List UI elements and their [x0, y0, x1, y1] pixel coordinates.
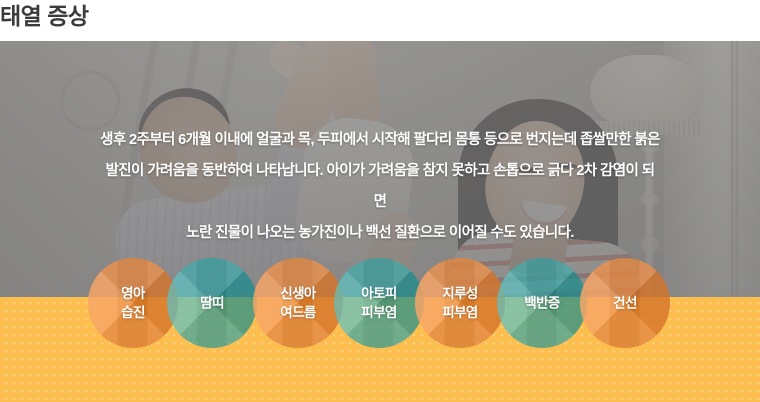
bubble-label: 영아 습진 — [88, 284, 178, 322]
bubble-label-line: 백반증 — [497, 294, 587, 313]
bubble-sinsaenga-yeodeureum[interactable]: 신생아 여드름 — [253, 258, 343, 348]
bubble-label-line: 건선 — [580, 294, 670, 313]
bubble-label: 신생아 여드름 — [253, 284, 343, 322]
bubble-geonseon[interactable]: 건선 — [580, 258, 670, 348]
bubble-label-line: 아토피 — [334, 284, 424, 303]
bubble-label: 백반증 — [497, 294, 587, 313]
bubble-label-line: 신생아 — [253, 284, 343, 303]
bubble-atopi-pibuyeom[interactable]: 아토피 피부염 — [334, 258, 424, 348]
bubble-jiruseong-pibuyeom[interactable]: 지루성 피부염 — [415, 258, 505, 348]
bubble-label: 아토피 피부염 — [334, 284, 424, 322]
bubble-label: 땀띠 — [167, 294, 257, 313]
bubble-yeonga-seupjin[interactable]: 영아 습진 — [88, 258, 178, 348]
bubble-label-line: 지루성 — [415, 284, 505, 303]
page-root: 태열 증상 — [0, 0, 760, 402]
bubble-label-line: 습진 — [88, 303, 178, 322]
bubble-ttamtti[interactable]: 땀띠 — [167, 258, 257, 348]
bubble-label-line: 여드름 — [253, 303, 343, 322]
bubble-label-line: 땀띠 — [167, 294, 257, 313]
bubble-label-line: 영아 — [88, 284, 178, 303]
bubble-label: 건선 — [580, 294, 670, 313]
condition-bubble-group: 영아 습진 땀띠 신생아 여드름 아토피 피부염 — [0, 0, 760, 402]
bubble-baekbanjeung[interactable]: 백반증 — [497, 258, 587, 348]
bubble-label-line: 피부염 — [415, 303, 505, 322]
bubble-label-line: 피부염 — [334, 303, 424, 322]
bubble-label: 지루성 피부염 — [415, 284, 505, 322]
